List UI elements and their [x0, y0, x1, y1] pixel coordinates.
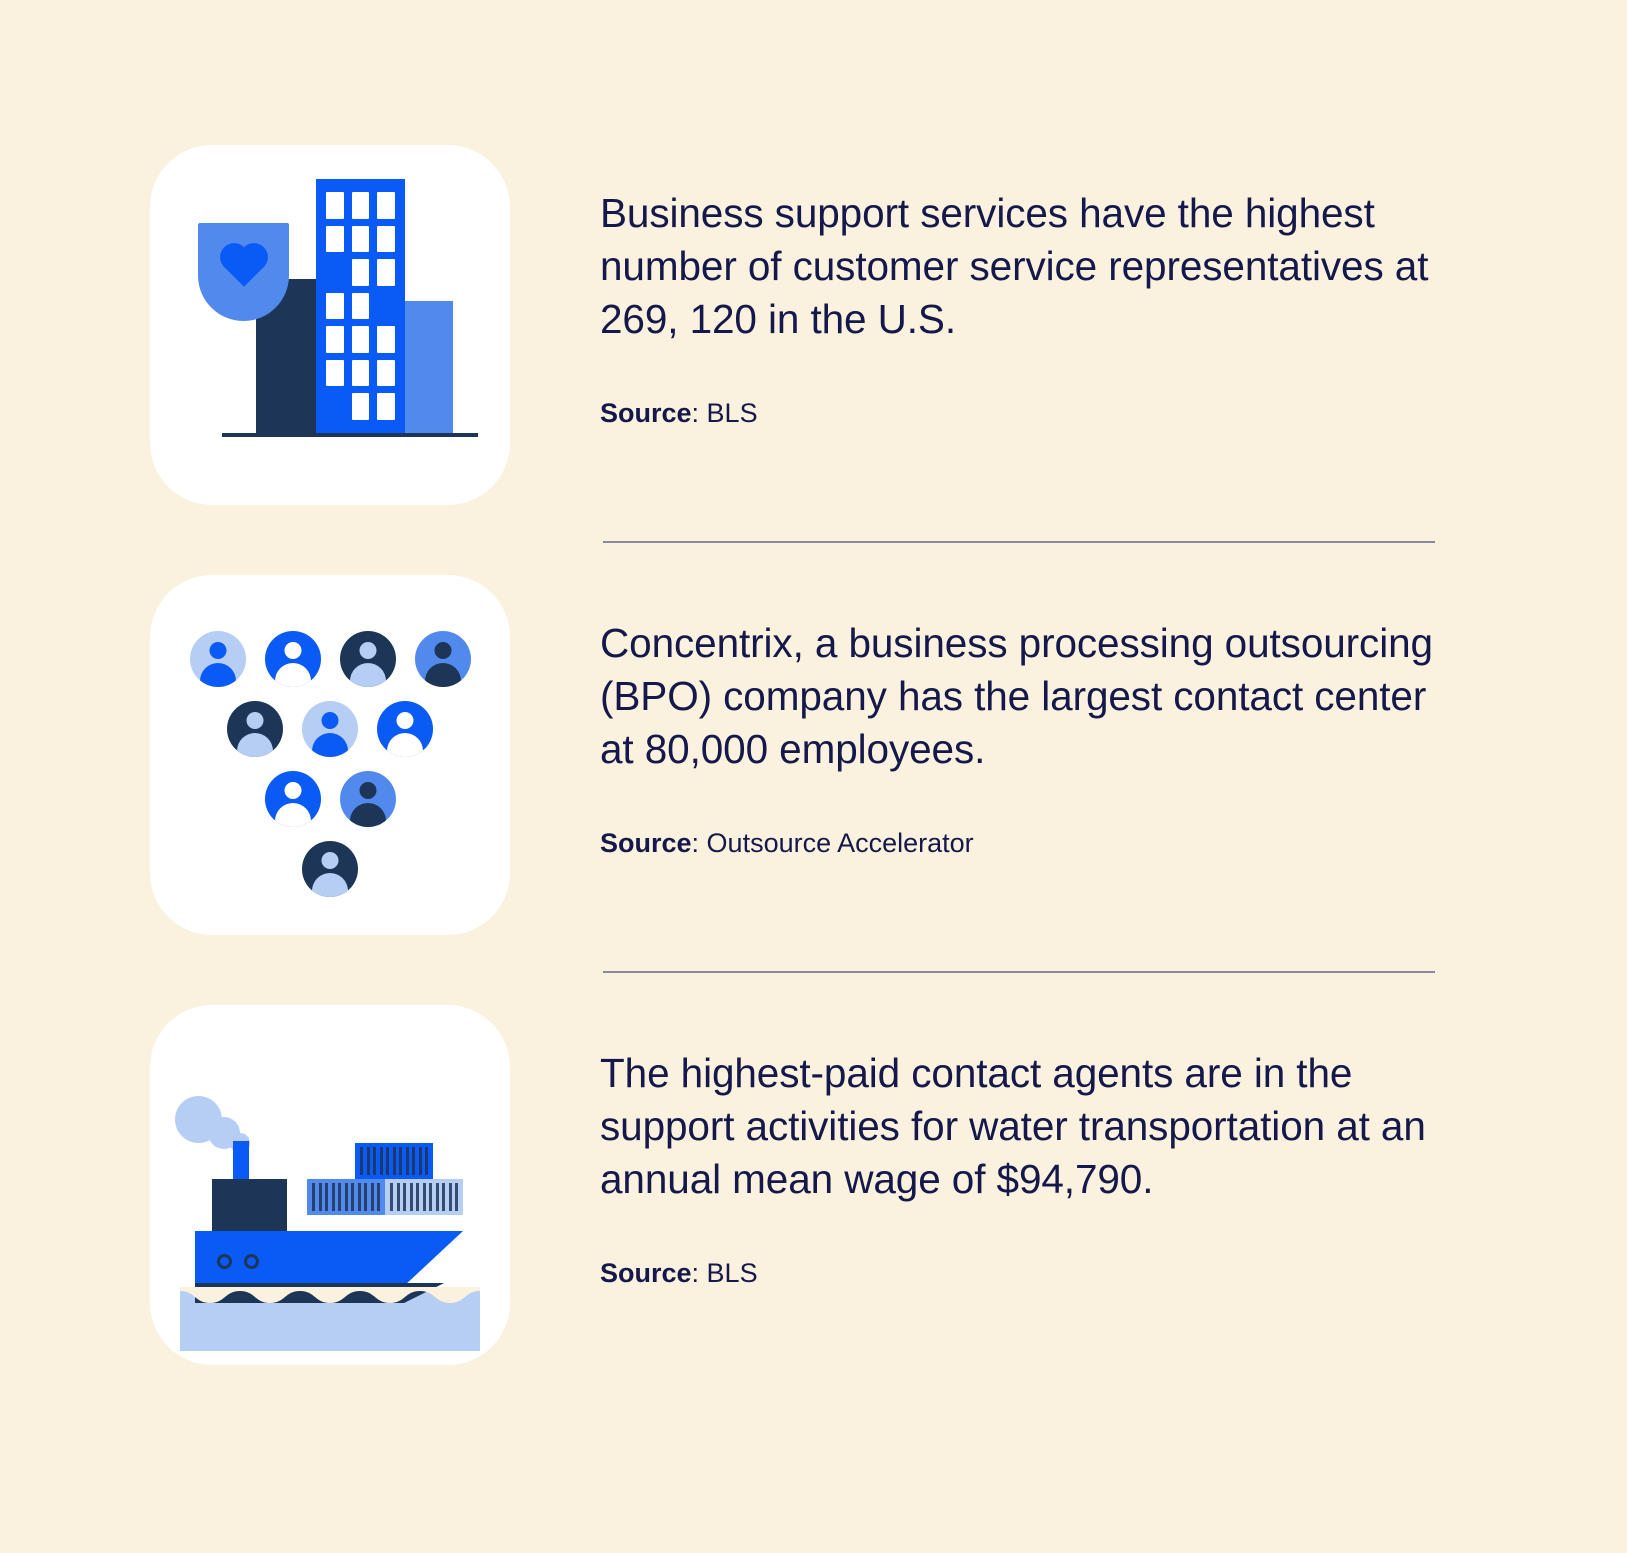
container-rib	[455, 1183, 458, 1211]
avatar-body	[275, 803, 311, 827]
cargo-container-right	[385, 1179, 463, 1215]
avatar-body	[350, 663, 386, 687]
container-rib	[360, 1147, 363, 1175]
container-rib	[358, 1183, 361, 1211]
container-rib	[373, 1147, 376, 1175]
avatar-grid	[150, 575, 510, 935]
source-label: Source	[600, 1258, 692, 1288]
stat-source: Source: BLS	[600, 1256, 1627, 1291]
container-rib	[367, 1147, 370, 1175]
avatar-head	[284, 782, 301, 799]
avatar-body	[275, 663, 311, 687]
person-avatar-icon	[302, 841, 358, 897]
container-rib	[425, 1147, 428, 1175]
building-window	[352, 293, 370, 320]
building-window	[352, 393, 370, 420]
container-rib	[412, 1147, 415, 1175]
source-label: Source	[600, 398, 692, 428]
avatar-head	[247, 712, 264, 729]
container-rib	[364, 1183, 367, 1211]
container-rib	[410, 1183, 413, 1211]
building-window	[377, 360, 395, 387]
container-rib	[351, 1183, 354, 1211]
person-avatar-icon	[340, 771, 396, 827]
building-main-shape	[316, 179, 405, 433]
building-window	[352, 226, 370, 253]
container-rib	[449, 1183, 452, 1211]
office-buildings-shield-heart-icon	[150, 145, 510, 505]
container-rib	[345, 1183, 348, 1211]
container-rib	[399, 1147, 402, 1175]
ship-porthole	[217, 1254, 232, 1269]
shield-heart-icon	[198, 223, 289, 321]
icon-cell-2	[150, 575, 510, 935]
person-avatar-icon	[302, 701, 358, 757]
person-avatar-icon	[340, 631, 396, 687]
avatar-head	[359, 782, 376, 799]
section-divider	[603, 541, 1435, 543]
avatar-head	[434, 642, 451, 659]
avatar-head	[284, 642, 301, 659]
stat-row-business-support-services: Business support services have the highe…	[0, 145, 1627, 505]
building-window	[352, 360, 370, 387]
person-avatar-icon	[377, 701, 433, 757]
ship-funnel	[233, 1141, 249, 1179]
building-window	[326, 226, 344, 253]
text-cell-1: Business support services have the highe…	[600, 145, 1627, 431]
ship-porthole	[244, 1254, 259, 1269]
avatar-head	[397, 712, 414, 729]
avatar-head	[209, 642, 226, 659]
person-avatar-icon	[227, 701, 283, 757]
source-value: : BLS	[692, 398, 758, 428]
building-window	[326, 192, 344, 219]
building-window	[326, 293, 344, 320]
container-rib	[419, 1147, 422, 1175]
source-label: Source	[600, 828, 692, 858]
person-avatar-icon	[265, 631, 321, 687]
building-window	[352, 259, 370, 286]
heart-icon	[224, 247, 264, 287]
ground-line	[222, 433, 478, 437]
building-window	[326, 326, 344, 353]
avatar-body	[200, 663, 236, 687]
container-rib	[377, 1183, 380, 1211]
container-rib	[380, 1147, 383, 1175]
building-window-empty	[326, 259, 344, 286]
building-window	[377, 192, 395, 219]
avatar-body	[387, 733, 423, 757]
stat-row-highest-paid-contact-agents: The highest-paid contact agents are in t…	[0, 1005, 1627, 1365]
building-window	[377, 259, 395, 286]
wave-crest	[180, 1287, 480, 1303]
icon-cell-1	[150, 145, 510, 505]
container-rib	[312, 1183, 315, 1211]
cargo-container-left	[307, 1179, 385, 1215]
cargo-container-top	[355, 1143, 433, 1179]
building-window	[377, 393, 395, 420]
avatar-body	[425, 663, 461, 687]
text-cell-3: The highest-paid contact agents are in t…	[600, 1005, 1627, 1291]
source-value: : BLS	[692, 1258, 758, 1288]
container-rib	[406, 1147, 409, 1175]
ship-scene	[150, 1005, 510, 1365]
container-rib	[338, 1183, 341, 1211]
ship-cabin	[212, 1179, 287, 1231]
container-rib	[393, 1147, 396, 1175]
container-rib	[332, 1183, 335, 1211]
avatar-head	[322, 712, 339, 729]
person-avatar-icon	[415, 631, 471, 687]
person-avatar-icon	[190, 631, 246, 687]
building-window	[352, 192, 370, 219]
avatar-body	[312, 873, 348, 897]
container-rib	[423, 1183, 426, 1211]
section-divider	[603, 971, 1435, 973]
stat-row-concentrix-largest-contact-center: Concentrix, a business processing outsou…	[0, 575, 1627, 935]
container-rib	[319, 1183, 322, 1211]
cargo-ship-containers-icon	[150, 1005, 510, 1365]
infographic-root: Business support services have the highe…	[0, 0, 1627, 1553]
stat-headline: The highest-paid contact agents are in t…	[600, 1047, 1460, 1206]
person-avatar-icon	[265, 771, 321, 827]
container-rib	[416, 1183, 419, 1211]
building-window-empty	[377, 293, 395, 320]
text-cell-2: Concentrix, a business processing outsou…	[600, 575, 1627, 861]
container-rib	[325, 1183, 328, 1211]
avatar-body	[350, 803, 386, 827]
avatar-body	[237, 733, 273, 757]
stat-source: Source: BLS	[600, 396, 1627, 431]
stat-headline: Business support services have the highe…	[600, 187, 1460, 346]
people-group-avatars-icon	[150, 575, 510, 935]
building-window-empty	[326, 393, 344, 420]
stat-headline: Concentrix, a business processing outsou…	[600, 617, 1460, 776]
container-rib	[442, 1183, 445, 1211]
ship-hull-upper	[195, 1231, 463, 1286]
source-value: : Outsource Accelerator	[692, 828, 974, 858]
container-rib	[386, 1147, 389, 1175]
container-rib	[436, 1183, 439, 1211]
container-rib	[403, 1183, 406, 1211]
avatar-head	[322, 852, 339, 869]
building-window	[352, 326, 370, 353]
icon-cell-3	[150, 1005, 510, 1365]
building-medium-shape	[405, 301, 453, 433]
building-window	[326, 360, 344, 387]
avatar-head	[359, 642, 376, 659]
container-rib	[371, 1183, 374, 1211]
stat-source: Source: Outsource Accelerator	[600, 826, 1627, 861]
container-rib	[429, 1183, 432, 1211]
building-window	[377, 226, 395, 253]
container-rib	[390, 1183, 393, 1211]
avatar-body	[312, 733, 348, 757]
building-window	[377, 326, 395, 353]
container-rib	[397, 1183, 400, 1211]
